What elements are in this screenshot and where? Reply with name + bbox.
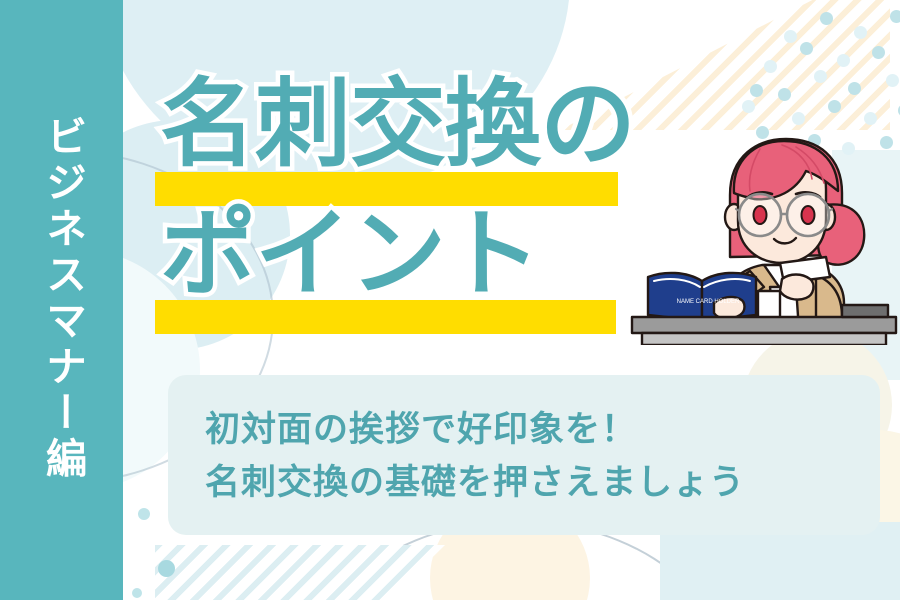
sidebar-category-label: ビジネスマナー編 [36, 34, 88, 564]
subtitle-line-2: 名刺交換の基礎を押さえましょう [205, 456, 745, 509]
banner-canvas: 名刺交換の ポイント 初対面の挨拶で好印象を！ 名刺交換の基礎を押さえましょう [0, 0, 900, 600]
decor-small-dot-1 [138, 508, 150, 520]
subtitle-text-block: 初対面の挨拶で好印象を！ 名刺交換の基礎を押さえましょう [205, 403, 745, 509]
decor-small-dot-3 [132, 588, 142, 598]
main-title-line-1: 名刺交換の [160, 77, 635, 173]
main-title-line-2: ポイント [160, 207, 540, 303]
sidebar-banner: ビジネスマナー編 [0, 0, 123, 600]
decor-small-dot-2 [158, 560, 175, 577]
card-holder-label: NAME CARD HOLDER [677, 299, 740, 305]
illustration-woman-at-desk: NAME CARD HOLDER [630, 135, 898, 345]
subtitle-line-1: 初対面の挨拶で好印象を！ [205, 403, 745, 456]
